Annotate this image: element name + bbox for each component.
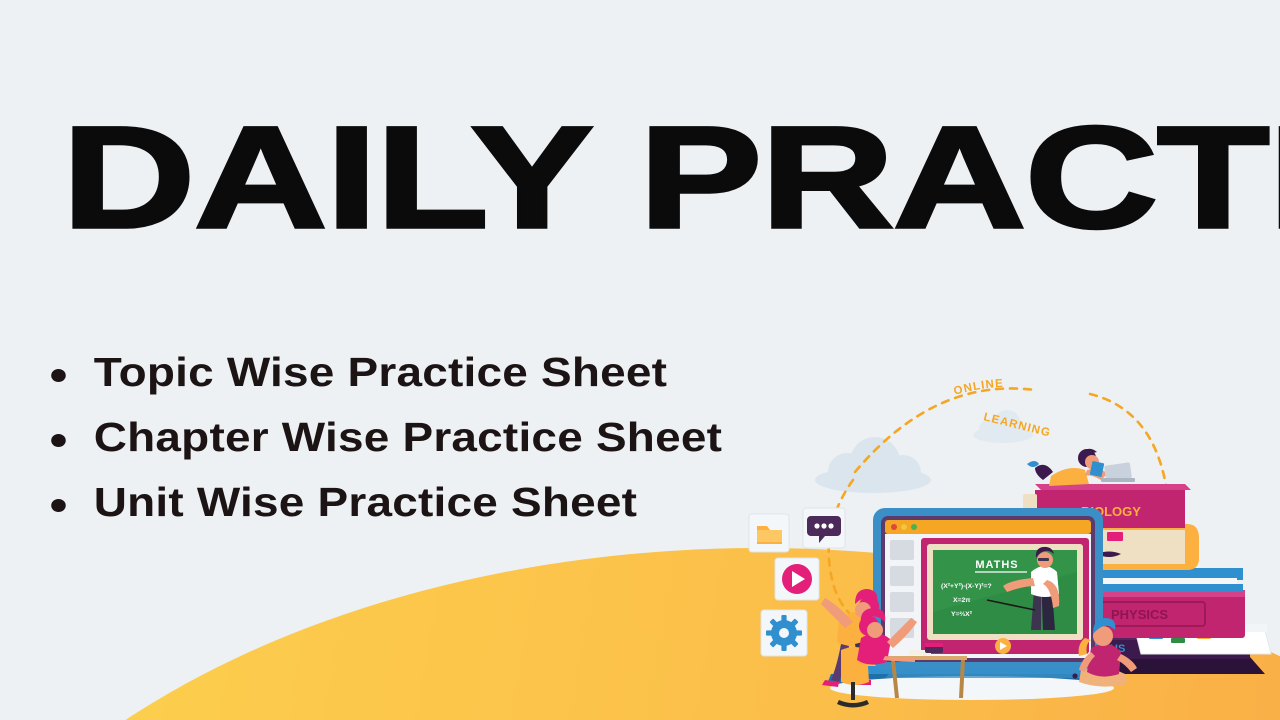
page-title: DAILY PRACTICE SHEET (62, 112, 1280, 245)
feature-list: Topic Wise Practice Sheet Chapter Wise P… (40, 352, 649, 547)
icon-card-folder (749, 514, 789, 552)
cloud-icon (815, 437, 931, 493)
icon-card-gear (761, 610, 807, 656)
chalkboard-equation-3: Y=⅔X² (951, 611, 973, 618)
icon-card-chat (803, 508, 845, 548)
icon-card-play (775, 558, 819, 600)
book-label-physics: PHYSICS (1111, 607, 1168, 622)
online-learning-illustration: ONLINE LEARNING MATHS (735, 372, 1280, 720)
chalkboard-title: MATHS (975, 559, 1018, 571)
list-item: Topic Wise Practice Sheet (40, 352, 722, 393)
chalkboard-equation-1: (X²+Y²)-(X-Y)²=? (941, 583, 992, 590)
banner-online-text: ONLINE (952, 378, 1004, 398)
slide-canvas: DAILY PRACTICE SHEET Topic Wise Practice… (0, 0, 1280, 720)
student-on-books-with-laptop (1027, 449, 1135, 486)
chalkboard-equation-2: X=2π (953, 597, 971, 604)
dashed-arc-down (829, 480, 863, 624)
list-item: Unit Wise Practice Sheet (40, 482, 722, 523)
list-item: Chapter Wise Practice Sheet (40, 417, 722, 458)
